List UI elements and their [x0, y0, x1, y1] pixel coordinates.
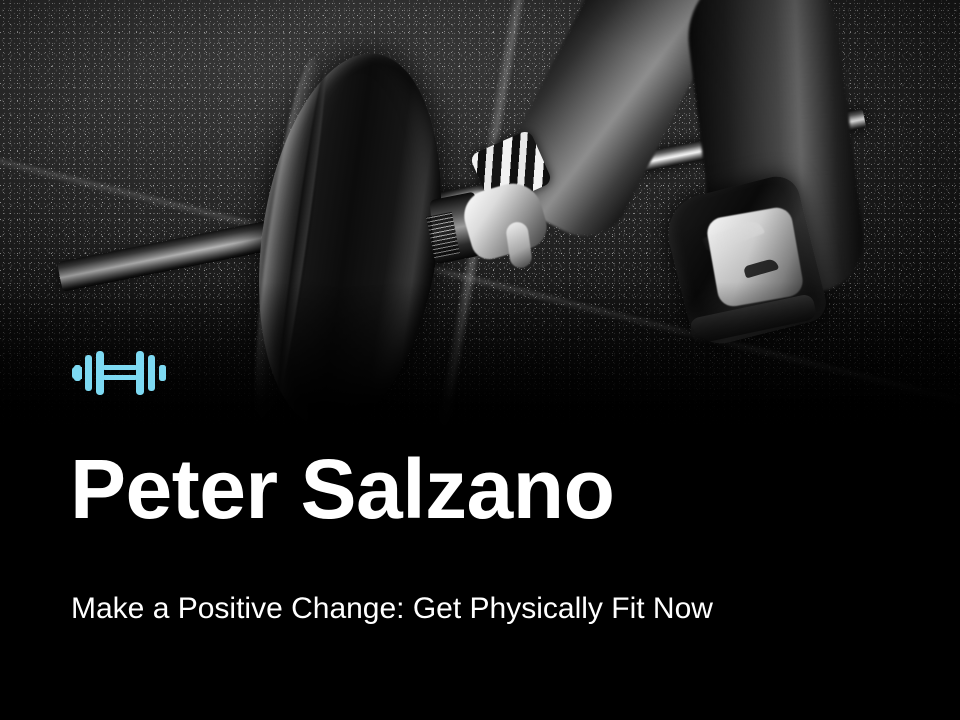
page-title: Peter Salzano — [70, 447, 614, 531]
fitness-poster: Peter Salzano Make a Positive Change: Ge… — [0, 0, 960, 720]
athletic-sock — [705, 205, 805, 309]
dumbbell-icon — [72, 348, 168, 398]
page-subtitle: Make a Positive Change: Get Physically F… — [71, 578, 871, 640]
